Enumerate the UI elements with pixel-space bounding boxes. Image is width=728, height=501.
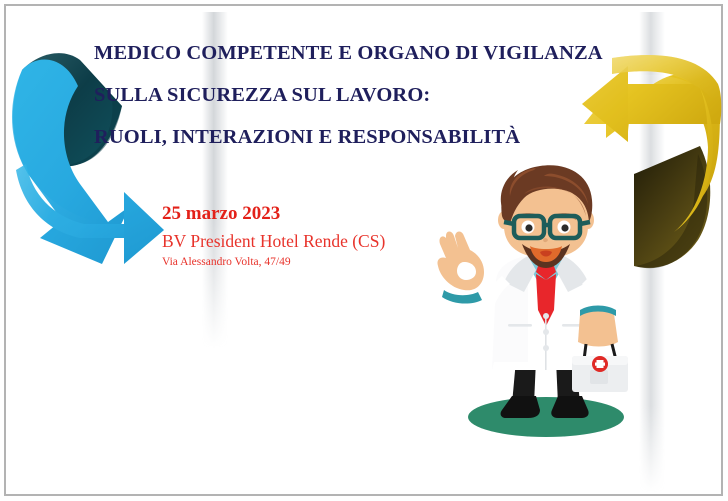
slide-frame: MEDICO COMPETENTE E ORGANO DI VIGILANZA … bbox=[4, 4, 723, 496]
ground-shadow bbox=[468, 397, 624, 437]
page-title: MEDICO COMPETENTE E ORGANO DI VIGILANZA … bbox=[94, 32, 606, 158]
title-line-2: SULLA SICUREZZA SUL LAVORO: bbox=[94, 74, 606, 116]
presentation-slide: MEDICO COMPETENTE E ORGANO DI VIGILANZA … bbox=[0, 0, 728, 501]
event-date: 25 marzo 2023 bbox=[162, 202, 385, 226]
event-venue: BV President Hotel Rende (CS) bbox=[162, 229, 385, 253]
event-address: Via Alessandro Volta, 47/49 bbox=[162, 254, 385, 270]
title-line-1: MEDICO COMPETENTE E ORGANO DI VIGILANZA bbox=[94, 32, 606, 74]
event-info: 25 marzo 2023 BV President Hotel Rende (… bbox=[162, 202, 385, 270]
ok-hand-gesture bbox=[437, 232, 484, 304]
doctor-illustration bbox=[424, 164, 654, 449]
title-line-3: RUOLI, INTERAZIONI E RESPONSABILITÀ bbox=[94, 116, 606, 158]
